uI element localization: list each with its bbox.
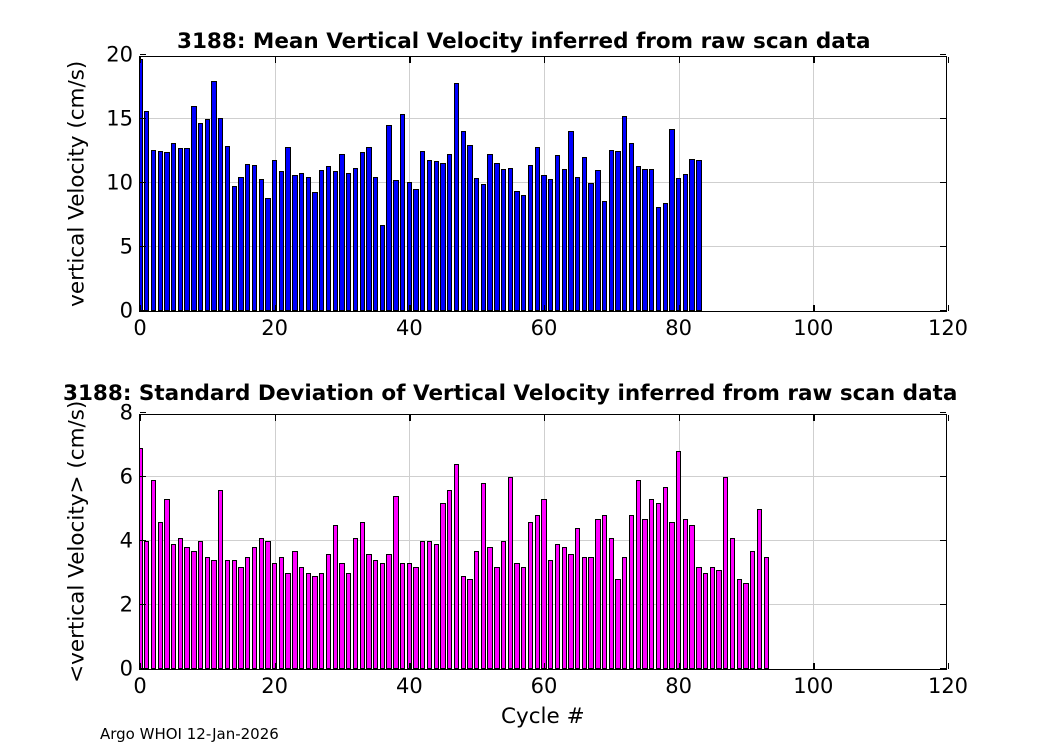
y-tick-mark [140,604,146,605]
x-tick-label: 40 [396,676,423,697]
bar [568,131,573,311]
bar [541,175,546,311]
chart-title-std: 3188: Standard Deviation of Vertical Vel… [63,383,957,405]
x-tick-mark [140,305,141,311]
bar [158,151,163,311]
bar [521,195,526,311]
bar [609,150,614,311]
x-tick-mark-top [544,57,545,63]
bar [723,477,728,669]
bar [663,487,668,669]
bar [568,554,573,669]
bar [461,576,466,669]
bar [386,125,391,311]
bar [151,480,156,669]
bar [205,557,210,669]
x-tick-mark-top [140,415,141,421]
bar [346,573,351,669]
bar [360,522,365,669]
bar [225,146,230,311]
bar [178,148,183,311]
bar [158,522,163,669]
bar [292,551,297,669]
bar [400,114,405,311]
bar [535,147,540,311]
x-tick-mark [275,305,276,311]
x-tick-label: 60 [531,318,558,339]
bar [649,169,654,311]
bar [366,147,371,311]
bar [434,544,439,669]
x-tick-mark-top [544,415,545,421]
y-tick-label: 0 [120,301,133,322]
bar [218,118,223,311]
bar [663,203,668,311]
x-tick-label: 20 [261,676,288,697]
bar [710,567,715,669]
x-tick-mark-top [275,415,276,421]
bar [306,177,311,311]
bar [609,538,614,669]
bar [326,166,331,311]
bar [171,143,176,311]
bar-series-std [140,415,946,669]
bar [232,186,237,311]
y-tick-mark-right [940,246,946,247]
x-tick-mark-top [409,57,410,63]
x-tick-mark [813,305,814,311]
bar [629,515,634,669]
bar [333,171,338,311]
bar [622,557,627,669]
x-tick-mark-top [948,415,949,421]
bar [461,131,466,311]
bar-series-mean [140,57,946,311]
x-tick-label: 40 [396,318,423,339]
bar [259,538,264,669]
bar [164,499,169,669]
bar [140,59,143,311]
bar [420,151,425,311]
bar [393,496,398,669]
bar [279,557,284,669]
y-tick-mark [140,476,146,477]
bar [696,160,701,311]
bar [636,480,641,669]
bar [555,544,560,669]
x-tick-mark-top [679,415,680,421]
bar [407,182,412,311]
y-tick-label: 5 [120,237,133,258]
x-tick-mark [544,663,545,669]
bar [140,448,143,669]
bar [312,576,317,669]
bar [575,528,580,669]
bar [562,169,567,311]
bar [555,155,560,311]
chart-title-mean: 3188: Mean Vertical Velocity inferred fr… [177,31,871,53]
bar [602,515,607,669]
y-tick-mark-right [940,540,946,541]
y-tick-label: 20 [106,45,133,66]
bar [595,170,600,311]
bar [737,579,742,669]
bar [440,503,445,669]
x-tick-mark [813,663,814,669]
bar [353,168,358,311]
bar [245,557,250,669]
bar [198,123,203,311]
bar [636,166,641,311]
bar [232,560,237,669]
bar [622,116,627,311]
bar [440,163,445,311]
bar [225,560,230,669]
y-tick-mark [140,118,146,119]
bar [144,111,149,311]
bar [750,551,755,669]
bar [764,557,769,669]
bar [151,150,156,311]
bar [434,161,439,311]
y-tick-mark-right [940,604,946,605]
bar [339,154,344,311]
bar [588,557,593,669]
bar [211,560,216,669]
x-tick-mark [948,305,949,311]
y-tick-mark-right [940,668,946,669]
x-tick-label: 120 [928,676,968,697]
bar [420,541,425,669]
bar [481,184,486,311]
bar [629,143,634,311]
bar [299,567,304,669]
bar [386,554,391,669]
bar [238,177,243,311]
bar [319,170,324,311]
bar [669,522,674,669]
bar [676,451,681,669]
bar [494,163,499,311]
bar [528,522,533,669]
x-tick-mark [409,305,410,311]
y-tick-label: 8 [120,403,133,424]
bar [487,154,492,311]
bar [474,178,479,311]
bar [211,81,216,311]
x-tick-label: 0 [133,676,146,697]
x-tick-mark-top [140,57,141,63]
bar [683,519,688,669]
y-tick-mark [140,246,146,247]
x-tick-label: 80 [665,676,692,697]
x-tick-label: 20 [261,318,288,339]
bar [312,192,317,311]
bar [447,154,452,311]
bar [198,541,203,669]
y-tick-label: 0 [120,659,133,680]
x-tick-mark-top [948,57,949,63]
bar [743,583,748,669]
y-tick-label: 15 [106,109,133,130]
x-tick-label: 100 [793,318,833,339]
bar [454,83,459,311]
bar [373,560,378,669]
bar [521,567,526,669]
y-tick-mark-right [940,182,946,183]
bar [501,169,506,311]
figure-footer-note: Argo WHOI 12-Jan-2026 [100,727,279,742]
bar [508,168,513,311]
bar [400,563,405,669]
bar [252,547,257,669]
bar [272,160,277,311]
bar [669,129,674,311]
bar [265,198,270,311]
bar [292,175,297,311]
bar [683,174,688,311]
bar [642,519,647,669]
bar [191,551,196,669]
bar [730,538,735,669]
bar [299,173,304,311]
x-tick-mark [544,305,545,311]
bar [514,191,519,311]
bar [649,499,654,669]
bar [353,538,358,669]
bar [656,503,661,669]
y-tick-label: 4 [120,531,133,552]
bar [272,563,277,669]
plot-axes-std: 02468020406080100120 [139,414,947,670]
bar [494,567,499,669]
x-tick-mark [409,663,410,669]
bar [265,541,270,669]
x-tick-mark [275,663,276,669]
y-tick-label: 2 [120,595,133,616]
x-tick-mark [679,305,680,311]
bar [548,179,553,311]
y-tick-mark [140,540,146,541]
bar [218,490,223,669]
x-tick-mark-top [679,57,680,63]
bar [656,207,661,311]
bar [413,567,418,669]
bar [447,490,452,669]
bar [285,573,290,669]
bar [689,159,694,311]
bar [407,563,412,669]
bar [373,177,378,311]
bar [595,519,600,669]
bar [380,225,385,311]
bar [238,567,243,669]
bar [535,515,540,669]
x-tick-mark-top [813,415,814,421]
bar [487,547,492,669]
y-tick-mark-right [940,310,946,311]
y-tick-mark-right [940,412,946,413]
bar [703,573,708,669]
bar [306,573,311,669]
bar [757,509,762,669]
bar [588,183,593,311]
x-tick-mark-top [409,415,410,421]
y-tick-mark [140,182,146,183]
bar [508,477,513,669]
bar [427,160,432,311]
y-tick-label: 6 [120,467,133,488]
bar [501,541,506,669]
bar [285,147,290,311]
bar [481,483,486,669]
bar [615,151,620,311]
bar [615,579,620,669]
figure-container: 3188: Mean Vertical Velocity inferred fr… [0,0,1050,750]
bar [582,557,587,669]
bar [259,179,264,311]
bar [541,499,546,669]
y-axis-title-mean: vertical Velocity (cm/s) [66,61,88,307]
bar [548,560,553,669]
bar [326,554,331,669]
bar [676,178,681,311]
x-tick-mark-top [813,57,814,63]
bar [454,464,459,669]
bar [582,157,587,311]
bar [575,177,580,311]
bar [245,164,250,311]
bar [716,570,721,669]
x-tick-mark [140,663,141,669]
x-tick-mark [679,663,680,669]
bar [528,165,533,311]
bar [205,119,210,311]
bar [333,525,338,669]
bar [689,525,694,669]
x-tick-label: 0 [133,318,146,339]
y-axis-title-std: <vertical Velocity> (cm/s) [66,401,88,683]
bar [191,106,196,311]
bar [366,554,371,669]
bar [380,563,385,669]
bar [279,171,284,311]
x-tick-label: 60 [531,676,558,697]
bar [642,169,647,311]
x-tick-label: 120 [928,318,968,339]
bar [562,547,567,669]
y-tick-mark-right [940,54,946,55]
bar [360,152,365,311]
plot-axes-mean: 05101520020406080100120 [139,56,947,312]
bar [393,180,398,311]
bar [467,579,472,669]
bar [474,551,479,669]
x-tick-label: 80 [665,318,692,339]
y-tick-mark [140,412,146,413]
y-tick-label: 10 [106,173,133,194]
bar [514,563,519,669]
bar [339,563,344,669]
bar [144,541,149,669]
bar [252,165,257,311]
bar [184,148,189,311]
x-axis-title: Cycle # [501,706,585,728]
bar [413,189,418,311]
x-tick-label: 100 [793,676,833,697]
x-tick-mark [948,663,949,669]
plot-area-std [140,415,946,669]
bar [319,573,324,669]
bar [184,547,189,669]
y-tick-mark-right [940,476,946,477]
bar [346,173,351,311]
x-tick-mark-top [275,57,276,63]
plot-area-mean [140,57,946,311]
y-tick-mark-right [940,118,946,119]
bar [171,544,176,669]
bar [427,541,432,669]
bar [178,538,183,669]
bar [164,152,169,311]
y-tick-mark [140,54,146,55]
bar [467,145,472,311]
bar [602,201,607,311]
bar [696,567,701,669]
